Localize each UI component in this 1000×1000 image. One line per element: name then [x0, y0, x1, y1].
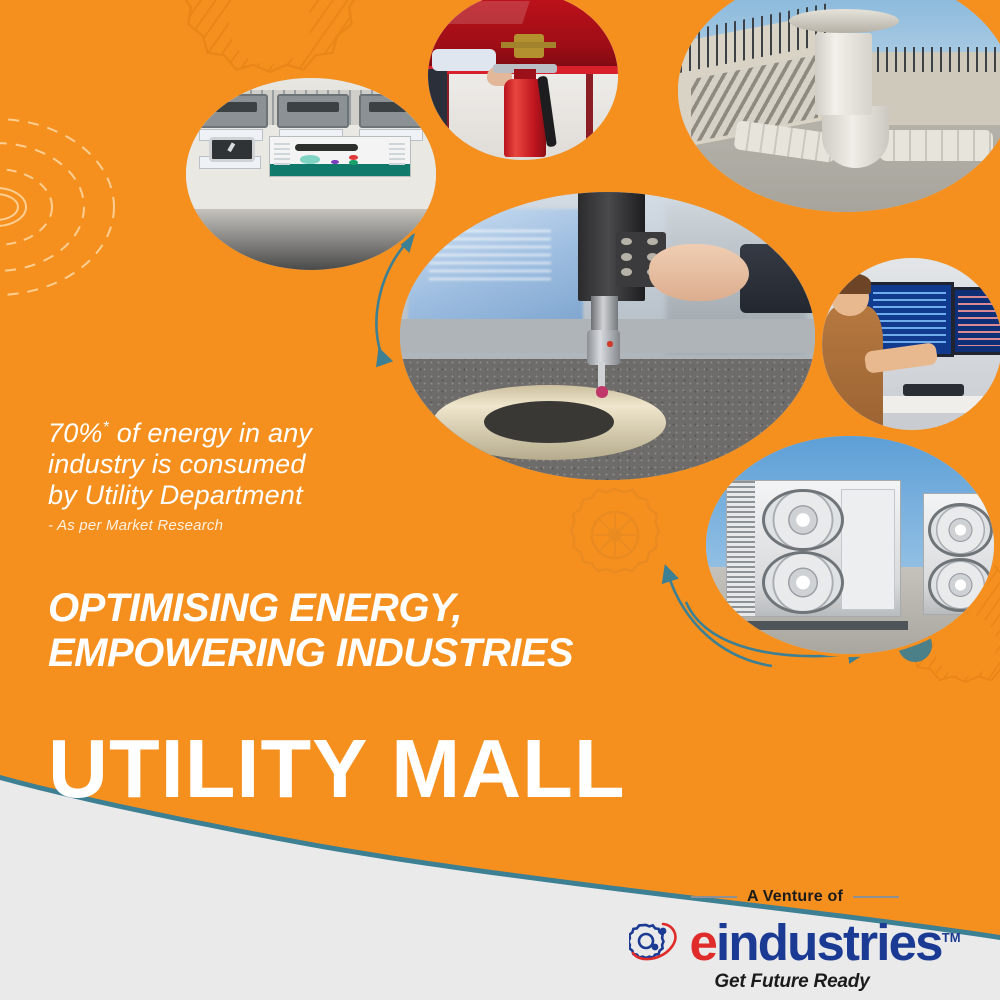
stat-line-1-rest: of energy in any	[109, 418, 312, 448]
venture-row: A Venture of	[610, 888, 980, 906]
page-title: UTILITY MALL	[48, 723, 626, 815]
venture-label: A Venture of	[747, 888, 843, 906]
photo-electrical-panel	[186, 78, 436, 270]
brand-wordmark: eindustriesTM	[689, 911, 960, 970]
brand-row: eindustriesTM	[610, 911, 980, 970]
stat-line-3: by Utility Department	[48, 480, 468, 511]
brand-name-rest: industries	[716, 914, 942, 971]
brand-tagline: Get Future Ready	[610, 971, 980, 993]
photo-fire-extinguisher	[428, 0, 618, 160]
venture-rule-right	[853, 896, 899, 898]
stat-line-2: industry is consumed	[48, 449, 468, 480]
eindustries-gear-orbit-logo-icon	[629, 919, 681, 963]
photo-control-room	[822, 258, 1000, 430]
footer-brand-block: A Venture of eindustriesTM Get Future Re…	[610, 888, 980, 993]
headline-line-2: EMPOWERING INDUSTRIES	[48, 631, 748, 676]
headline-block: OPTIMISING ENERGY, EMPOWERING INDUSTRIES	[48, 586, 748, 676]
stat-line-1: 70%* of energy in any	[48, 412, 468, 449]
stat-percent: 70%	[48, 418, 103, 448]
brand-letter-e: e	[689, 914, 716, 971]
headline-line-1: OPTIMISING ENERGY,	[48, 586, 748, 631]
stat-block: 70%* of energy in any industry is consum…	[48, 412, 468, 534]
stat-source: - As per Market Research	[48, 517, 468, 534]
photo-hvac-condenser	[706, 436, 994, 654]
poster-canvas: 70%* of energy in any industry is consum…	[0, 0, 1000, 1000]
trademark-mark: TM	[942, 930, 961, 945]
photo-rooftop-duct	[678, 0, 1000, 212]
venture-rule-left	[691, 896, 737, 898]
